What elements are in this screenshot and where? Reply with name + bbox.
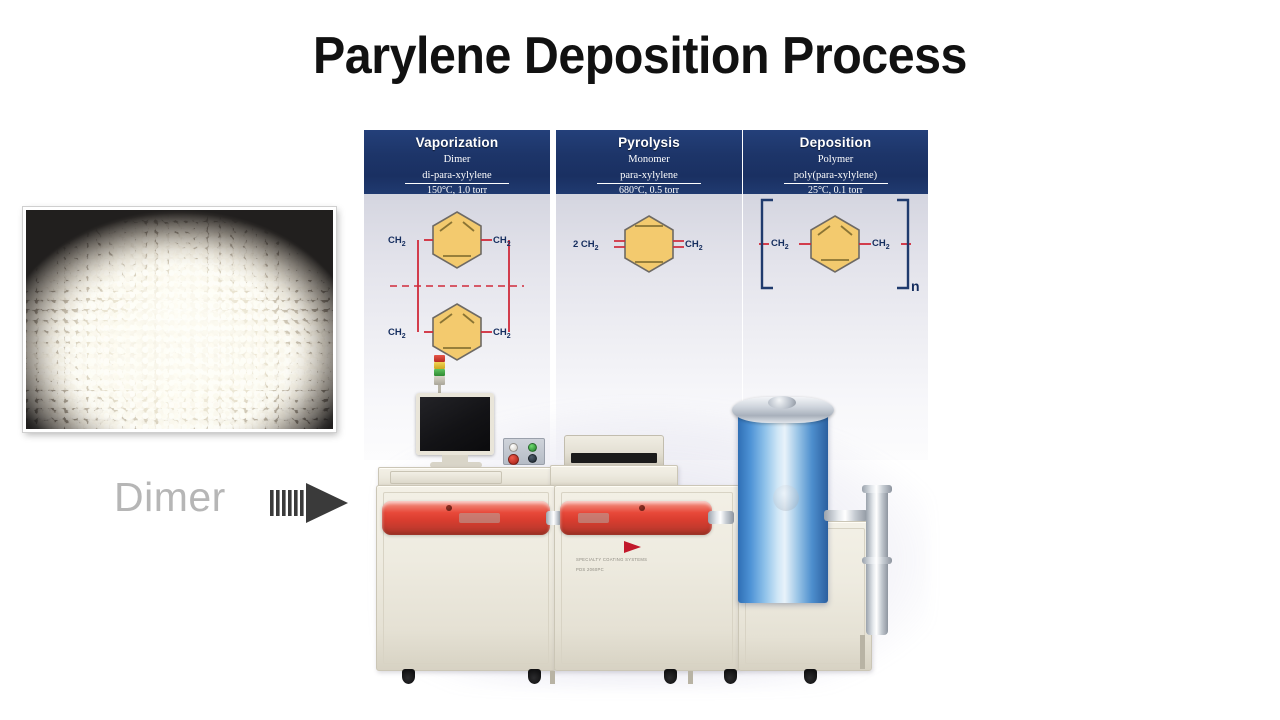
repeat-unit-label: n (911, 278, 920, 294)
stage-title: Vaporization (364, 135, 550, 150)
vaporizer-tube (382, 501, 550, 535)
bond-label-right-bottom: CH2 (493, 327, 511, 340)
deposition-machine-photo: SPECIALTY COATING SYSTEMS PDS 2060PC (368, 345, 940, 692)
tube-band (459, 513, 499, 524)
control-monitor[interactable] (416, 393, 494, 455)
bond-label-left: 2 CH2 (573, 239, 599, 252)
bond-label-left: CH2 (771, 238, 789, 251)
leveling-foot (860, 635, 865, 669)
monitor-stand (442, 455, 468, 462)
stage-species: Dimer (364, 154, 550, 166)
caster-wheel (664, 669, 677, 684)
caster-wheel (724, 669, 737, 684)
indicator-light-white[interactable] (509, 443, 518, 452)
tube-band (578, 513, 608, 524)
caster-wheel (528, 669, 541, 684)
caster-wheel (804, 669, 817, 684)
pyrolysis-tube (560, 501, 712, 535)
stage-title: Pyrolysis (556, 135, 742, 150)
stack-light-base (434, 376, 445, 385)
start-button-green[interactable] (528, 443, 537, 452)
stage-species: Polymer (743, 154, 928, 166)
bond-label-left-top: CH2 (388, 235, 406, 248)
bond-label-right: CH2 (685, 239, 703, 252)
keyboard[interactable] (390, 471, 502, 484)
tube-coupler-b (708, 511, 734, 524)
stack-light-red (434, 355, 445, 362)
leveling-foot (688, 671, 693, 684)
cold-trap-flange-mid (862, 557, 892, 564)
caster-wheel (402, 669, 415, 684)
brand-line-1: SPECIALTY COATING SYSTEMS (576, 557, 647, 562)
stack-light-amber (434, 362, 445, 369)
stack-light (434, 355, 445, 385)
chamber-viewport (773, 485, 799, 511)
printer-shelf (550, 465, 678, 487)
powder-granules (26, 210, 333, 429)
page-title: Parylene Deposition Process (45, 26, 1235, 86)
operator-control-panel[interactable] (503, 438, 545, 465)
benzene-ring-top (433, 212, 481, 268)
bond-label-right: CH2 (872, 238, 890, 251)
stage-header-vaporization: Vaporization Dimer di-para-xylylene 150°… (364, 130, 550, 194)
stage-title: Deposition (743, 135, 928, 150)
slide-root: Parylene Deposition Process Dimer Vapori… (0, 0, 1280, 720)
chamber-lid-handle[interactable] (768, 396, 796, 409)
chamber-inlet-pipe (824, 510, 868, 521)
stack-light-green (434, 369, 445, 376)
benzene-ring (625, 216, 673, 272)
dimer-caption: Dimer (114, 474, 226, 521)
stage-species: Monomer (556, 154, 742, 166)
stage-chemical: para-xylylene (556, 170, 742, 182)
stage-header-pyrolysis: Pyrolysis Monomer para-xylylene 680°C, 0… (556, 130, 742, 194)
stage-chemical: poly(para-xylylene) (743, 170, 928, 182)
benzene-ring (811, 216, 859, 272)
mode-button-dark[interactable] (528, 454, 537, 463)
tube-port (639, 505, 645, 511)
stage-header-deposition: Deposition Polymer poly(para-xylylene) 2… (743, 130, 928, 194)
dimer-powder-photo (23, 207, 336, 432)
flow-arrow-icon (270, 481, 348, 525)
stage-chemical: di-para-xylylene (364, 170, 550, 182)
bond-label-left-bottom: CH2 (388, 327, 406, 340)
printer[interactable] (564, 435, 664, 467)
process-diagram: Vaporization Dimer di-para-xylylene 150°… (364, 130, 940, 692)
cold-trap-flange-top (862, 485, 892, 493)
printer-paper-slot (571, 453, 657, 463)
brand-line-2: PDS 2060PC (576, 567, 604, 572)
bond-label-right-top: CH2 (493, 235, 511, 248)
tube-port (446, 505, 452, 511)
brand-arrow-icon (624, 541, 641, 553)
emergency-stop-button[interactable] (508, 454, 519, 465)
leveling-foot (550, 671, 555, 684)
